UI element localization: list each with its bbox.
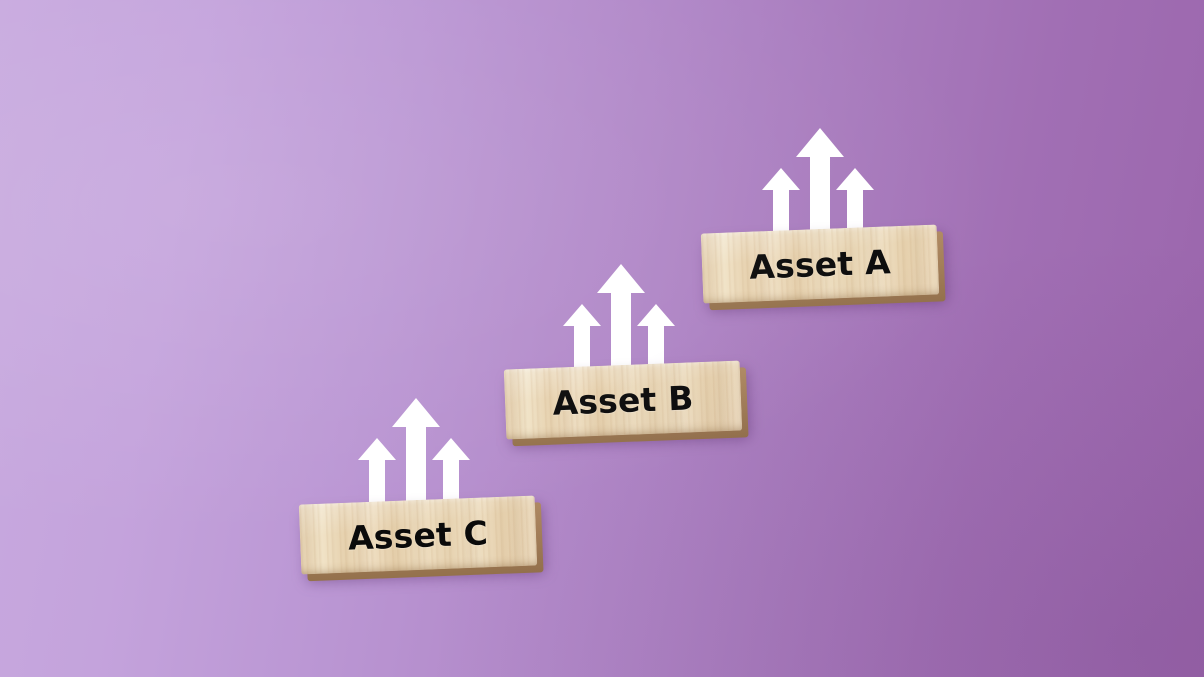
asset-plaque-b[interactable]: Asset B: [504, 360, 743, 439]
arrow-up-glyph: [358, 438, 396, 506]
asset-label-a: Asset A: [701, 224, 940, 303]
arrow-up-glyph: [432, 438, 470, 506]
asset-label-c: Asset C: [299, 495, 538, 574]
arrow-cluster-a: [762, 128, 874, 236]
arrow-up-glyph: [563, 304, 601, 372]
growth-arrow-small-right-icon: [836, 168, 874, 236]
arrow-cluster-c: [358, 398, 470, 506]
arrow-up-glyph: [637, 304, 675, 372]
arrow-cluster-b: [563, 264, 675, 372]
arrow-up-glyph: [762, 168, 800, 236]
growth-arrow-small-right-icon: [432, 438, 470, 506]
growth-arrow-small-left-icon: [762, 168, 800, 236]
growth-arrow-small-left-icon: [358, 438, 396, 506]
growth-arrow-small-right-icon: [637, 304, 675, 372]
asset-label-b: Asset B: [504, 360, 743, 439]
asset-plaque-a[interactable]: Asset A: [701, 224, 940, 303]
asset-plaque-c[interactable]: Asset C: [299, 495, 538, 574]
arrow-up-glyph: [836, 168, 874, 236]
asset-growth-scene: Asset C: [0, 0, 1204, 677]
growth-arrow-small-left-icon: [563, 304, 601, 372]
